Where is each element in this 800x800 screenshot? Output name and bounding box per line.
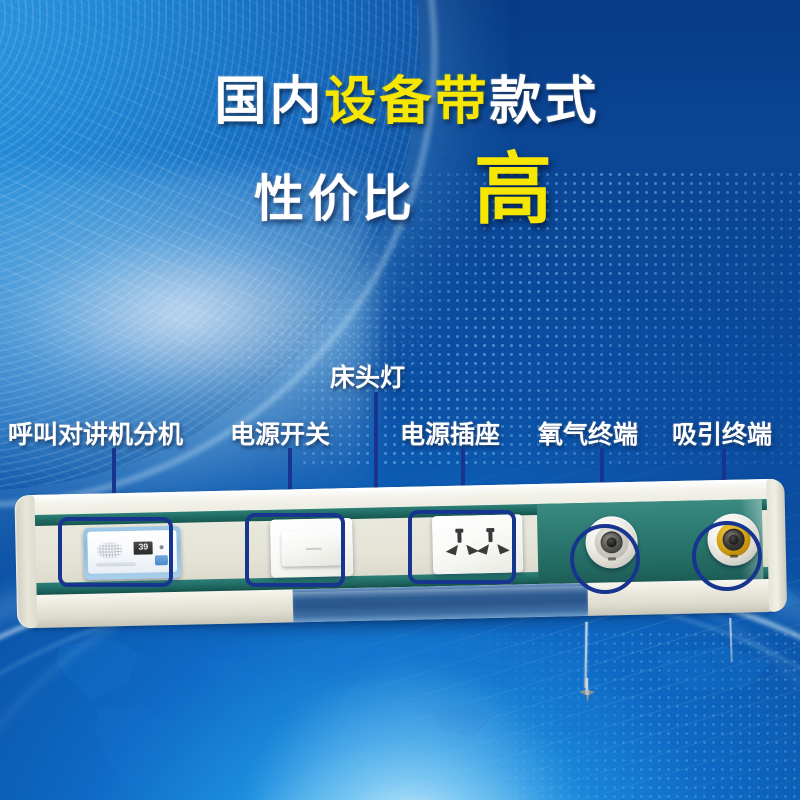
callout-label-bedside-lamp: 床头灯 (330, 358, 405, 394)
headline-line-1: 国内 设备带 款式 (0, 74, 800, 130)
headline-part-equipment-belt: 设备带 (324, 74, 489, 130)
highlight-power-socket (408, 510, 516, 584)
callout-label-suction-terminal: 吸引终端 (672, 415, 772, 451)
callout-label-oxygen-terminal: 氧气终端 (538, 415, 638, 451)
callout-label-intercom: 呼叫对讲机分机 (8, 415, 183, 451)
headline-high: 高 (474, 152, 552, 226)
cord-end-fitting-icon (578, 678, 596, 704)
headline-part-style: 款式 (490, 74, 600, 130)
headline-cost-performance: 性价比 (254, 159, 416, 231)
callout-label-power-socket: 电源插座 (400, 415, 500, 451)
promo-image-canvas: 国内 设备带 款式 性价比 高 呼叫对讲机分机 电源开关 床头灯 电源插座 氧气… (0, 0, 800, 800)
highlight-power-switch (245, 513, 345, 587)
bedside-lamp-cover (293, 583, 589, 622)
headline-part-domestic: 国内 (214, 74, 324, 130)
horizon-hotspot (230, 660, 590, 800)
halftone-dots-secondary (150, 250, 450, 430)
panel-end-cap-left (14, 495, 37, 628)
highlight-oxygen-terminal (570, 524, 640, 594)
panel-end-cap-right (766, 479, 787, 612)
highlight-intercom (58, 517, 173, 587)
headline-block: 国内 设备带 款式 性价比 高 (0, 74, 800, 231)
callout-label-power-switch: 电源开关 (230, 415, 330, 451)
highlight-suction-terminal (692, 521, 762, 591)
headline-line-2: 性价比 高 (0, 152, 800, 231)
